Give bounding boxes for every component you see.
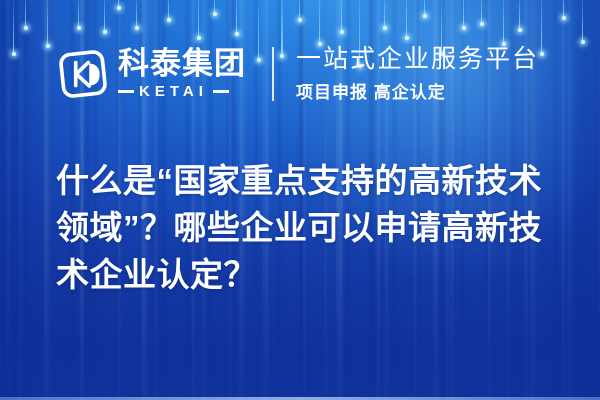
light-streak: [25, 0, 26, 28]
light-streak: [198, 0, 199, 38]
light-streak: [118, 0, 119, 8]
promo-banner: 科泰集团 KETAI 一站式企业服务平台 项目申报 高企认定 什么是“国家重点支…: [0, 0, 600, 400]
light-streak: [104, 0, 105, 32]
light-streak: [47, 0, 48, 46]
light-streak: [341, 0, 342, 32]
light-streak: [582, 0, 583, 42]
light-streak: [384, 0, 385, 28]
light-streak: [563, 0, 564, 18]
light-streak: [136, 0, 137, 28]
light-streak: [236, 0, 237, 34]
banner-header: 科泰集团 KETAI 一站式企业服务平台 项目申报 高企认定: [57, 42, 539, 106]
tagline-sub: 项目申报 高企认定: [296, 78, 539, 103]
tagline-main: 一站式企业服务平台: [296, 45, 539, 74]
logo-name-en: KETAI: [134, 83, 213, 100]
page-title: 什么是“国家重点支持的高新技术领域”？哪些企业可以申请高新技术企业认定？: [56, 158, 561, 299]
light-streak: [78, 0, 79, 28]
light-streak: [541, 0, 542, 54]
light-streak: [299, 0, 300, 20]
logo-name-en-row: KETAI: [118, 83, 246, 100]
logo-wordmark: 科泰集团 KETAI: [118, 48, 246, 100]
light-streak: [13, 0, 14, 54]
light-streak: [519, 0, 520, 30]
light-streak: [424, 0, 425, 16]
light-streak: [168, 0, 169, 20]
light-streak: [503, 0, 504, 44]
logo-name-cn: 科泰集团: [118, 48, 246, 81]
light-streak: [406, 0, 407, 38]
ketai-kd-monogram-logo-icon: [57, 48, 109, 100]
logo-dash-right-icon: [213, 90, 229, 93]
logo-dash-left-icon: [118, 90, 134, 93]
tagline-block: 一站式企业服务平台 项目申报 高企认定: [296, 45, 539, 104]
light-streak: [214, 0, 215, 14]
header-divider: [272, 47, 274, 101]
light-streak: [463, 0, 464, 28]
light-streak: [481, 0, 482, 24]
light-streak: [319, 0, 320, 44]
